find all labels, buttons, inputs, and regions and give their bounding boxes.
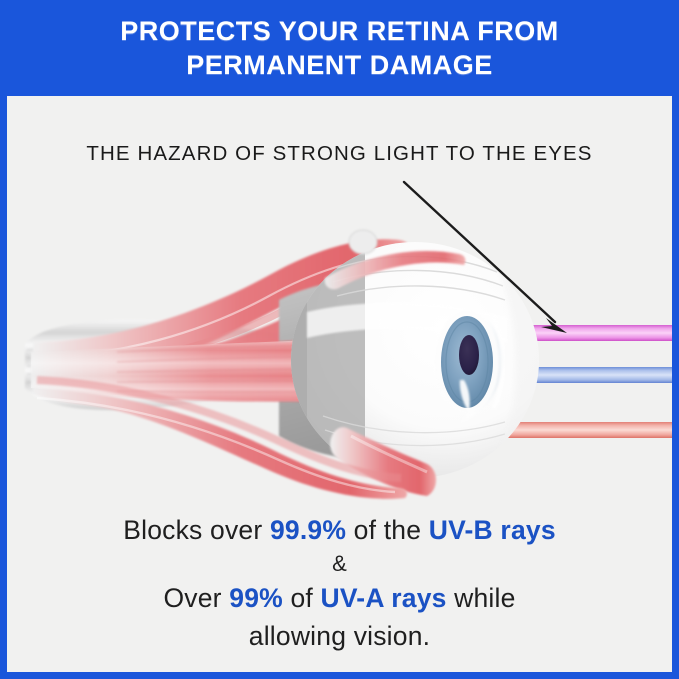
caption-uva-percent: 99% [229, 583, 283, 613]
caption-ampersand: & [7, 549, 672, 579]
infographic-root: PROTECTS YOUR RETINA FROM PERMANENT DAMA… [0, 0, 679, 679]
header-title-line-1: PROTECTS YOUR RETINA FROM [120, 14, 559, 48]
header-banner: PROTECTS YOUR RETINA FROM PERMANENT DAMA… [0, 0, 679, 96]
caption-uva-label: UV-A rays [321, 583, 447, 613]
header-title-line-2: PERMANENT DAMAGE [186, 48, 493, 82]
caption-l1-mid: of the [346, 515, 429, 545]
caption-uvb-label: UV-B rays [429, 515, 556, 545]
caption-line-3: Over 99% of UV-A rays while [7, 579, 672, 617]
caption-line-4: allowing vision. [7, 617, 672, 655]
pupil [459, 335, 479, 375]
caption-line-1: Blocks over 99.9% of the UV-B rays [7, 511, 672, 549]
subtitle-hazard: THE HAZARD OF STRONG LIGHT TO THE EYES [7, 142, 672, 166]
eye-illustration [7, 192, 672, 502]
caption-l1-pre: Blocks over [123, 515, 270, 545]
caption-l3-pre: Over [163, 583, 229, 613]
caption-l3-post: while [447, 583, 516, 613]
caption-l3-mid: of [283, 583, 321, 613]
caption-uvb-percent: 99.9% [270, 515, 346, 545]
ir-ray-red [494, 422, 672, 438]
muscle-tendon-nub [349, 230, 377, 254]
caption-block: Blocks over 99.9% of the UV-B rays & Ove… [7, 511, 672, 655]
content-panel: THE HAZARD OF STRONG LIGHT TO THE EYES [7, 96, 672, 672]
